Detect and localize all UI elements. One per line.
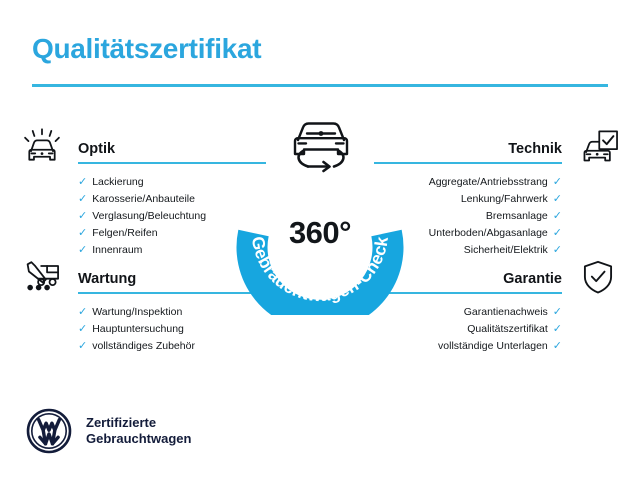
list-item: ✓ Hauptuntersuchung	[78, 321, 266, 338]
car-wrench-icon	[16, 256, 68, 298]
check-icon: ✓	[553, 307, 562, 318]
footer-line-1: Zertifizierte	[86, 415, 191, 431]
section-title: Technik	[508, 142, 562, 157]
check-icon: ✓	[78, 177, 87, 188]
car-shine-icon	[16, 126, 68, 168]
car-rotate-icon	[282, 117, 360, 179]
check-icon: ✓	[78, 245, 87, 256]
car-checkbox-icon	[572, 126, 624, 168]
header: Qualitätszertifikat	[32, 34, 608, 65]
footer-line-2: Gebrauchtwagen	[86, 431, 191, 447]
list-item-label: Qualitätszertifikat	[467, 321, 548, 338]
list-item-label: vollständiges Zubehör	[92, 338, 195, 355]
list-item-label: Garantienachweis	[464, 304, 548, 321]
check-icon: ✓	[553, 177, 562, 188]
list-item-label: Felgen/Reifen	[92, 225, 157, 242]
check-icon: ✓	[553, 245, 562, 256]
check-icon: ✓	[553, 324, 562, 335]
section-title: Wartung	[78, 272, 136, 287]
badge-360-check: Gebrauchtwagen-Check 360°	[224, 117, 416, 317]
list-item-label: Karosserie/Anbauteile	[92, 191, 195, 208]
check-icon: ✓	[78, 194, 87, 205]
check-icon: ✓	[78, 211, 87, 222]
footer-brand: Zertifizierte Gebrauchtwagen	[26, 408, 191, 454]
section-title: Optik	[78, 142, 115, 157]
header-divider	[32, 84, 608, 87]
check-icon: ✓	[78, 228, 87, 239]
check-icon: ✓	[78, 341, 87, 352]
check-icon: ✓	[553, 228, 562, 239]
check-icon: ✓	[553, 211, 562, 222]
check-icon: ✓	[78, 324, 87, 335]
list-item-label: vollständige Unterlagen	[438, 338, 548, 355]
list-item-label: Verglasung/Beleuchtung	[92, 208, 206, 225]
page-title: Qualitätszertifikat	[32, 34, 608, 65]
list-item-label: Lenkung/Fahrwerk	[461, 191, 548, 208]
list-item-label: Hauptuntersuchung	[92, 321, 184, 338]
badge-degree-label: 360°	[224, 217, 416, 248]
list-item: vollständige Unterlagen ✓	[374, 338, 562, 355]
list-item-label: Aggregate/Antriebsstrang	[429, 174, 548, 191]
list-item-label: Wartung/Inspektion	[92, 304, 182, 321]
list-item-label: Bremsanlage	[486, 208, 548, 225]
list-item-label: Lackierung	[92, 174, 143, 191]
check-icon: ✓	[78, 307, 87, 318]
section-title: Garantie	[503, 272, 562, 287]
check-icon: ✓	[553, 194, 562, 205]
vw-logo	[26, 408, 72, 454]
shield-check-icon	[572, 256, 624, 298]
list-item: Qualitätszertifikat ✓	[374, 321, 562, 338]
check-icon: ✓	[553, 341, 562, 352]
list-item: ✓ vollständiges Zubehör	[78, 338, 266, 355]
list-item-label: Unterboden/Abgasanlage	[429, 225, 548, 242]
certificate-page: Qualitätszertifikat	[0, 0, 640, 480]
footer-text: Zertifizierte Gebrauchtwagen	[86, 415, 191, 448]
